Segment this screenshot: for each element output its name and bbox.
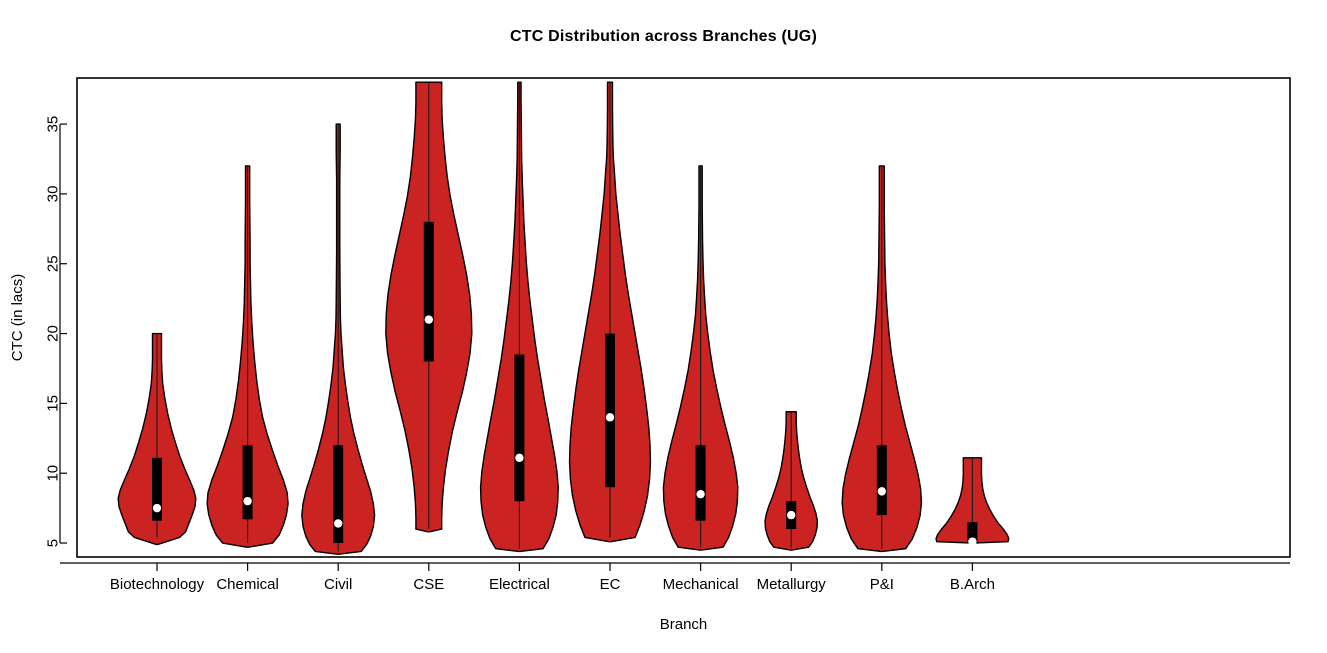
x-axis-tick-label: Civil	[324, 576, 352, 593]
y-axis-tick-label: 25	[45, 255, 62, 272]
x-axis-tick-label: EC	[600, 576, 621, 593]
y-axis-tick-label: 20	[45, 325, 62, 342]
x-axis-tick-label: Biotechnology	[110, 576, 205, 593]
violin-biotechnology	[118, 334, 196, 545]
violin-cse	[386, 82, 472, 532]
violin-median-point	[968, 537, 976, 545]
y-axis-tick-label: 5	[45, 539, 62, 547]
violin-civil	[302, 124, 375, 554]
y-axis-tick-label: 30	[45, 186, 62, 203]
violin-median-point	[696, 490, 704, 498]
x-axis-tick-label: B.Arch	[950, 576, 995, 593]
violin-b-arch	[936, 458, 1009, 546]
x-axis-tick-label: CSE	[413, 576, 444, 593]
violin-median-point	[153, 504, 161, 512]
y-axis-title: CTC (in lacs)	[9, 274, 26, 362]
violin-median-point	[606, 413, 614, 421]
violin-median-point	[425, 315, 433, 323]
violin-iqr-box	[605, 334, 615, 488]
y-axis-tick-label: 10	[45, 465, 62, 482]
x-axis-tick-label: Metallurgy	[757, 576, 827, 593]
violin-median-point	[243, 497, 251, 505]
violin-median-point	[515, 454, 523, 462]
x-axis-tick-label: P&I	[870, 576, 894, 593]
x-axis-tick-label: Electrical	[489, 576, 550, 593]
violin-iqr-box	[877, 445, 887, 515]
violin-median-point	[334, 519, 342, 527]
violin-electrical	[481, 82, 559, 551]
violin-iqr-box	[514, 355, 524, 502]
violin-median-point	[787, 511, 795, 519]
x-axis: BiotechnologyChemicalCivilCSEElectricalE…	[60, 563, 1290, 593]
violin-iqr-box	[333, 445, 343, 543]
x-axis-tick-label: Mechanical	[663, 576, 739, 593]
violin-mechanical	[663, 166, 737, 550]
violin-plot: 5101520253035 BiotechnologyChemicalCivil…	[0, 0, 1327, 653]
violin-iqr-box	[424, 222, 434, 362]
y-axis-tick-label: 35	[45, 116, 62, 133]
violin-p-i	[842, 166, 921, 551]
x-axis-tick-label: Chemical	[216, 576, 279, 593]
violin-series-group	[118, 82, 1009, 554]
violin-metallurgy	[765, 412, 817, 550]
y-axis-tick-label: 15	[45, 395, 62, 412]
chart-root: CTC Distribution across Branches (UG) 51…	[0, 0, 1327, 653]
y-axis: 5101520253035	[45, 116, 68, 547]
violin-median-point	[878, 487, 886, 495]
violin-iqr-box	[696, 445, 706, 520]
violin-chemical	[207, 166, 288, 547]
violin-ec	[570, 82, 651, 541]
x-axis-title: Branch	[660, 616, 708, 633]
violin-iqr-box	[243, 445, 253, 519]
